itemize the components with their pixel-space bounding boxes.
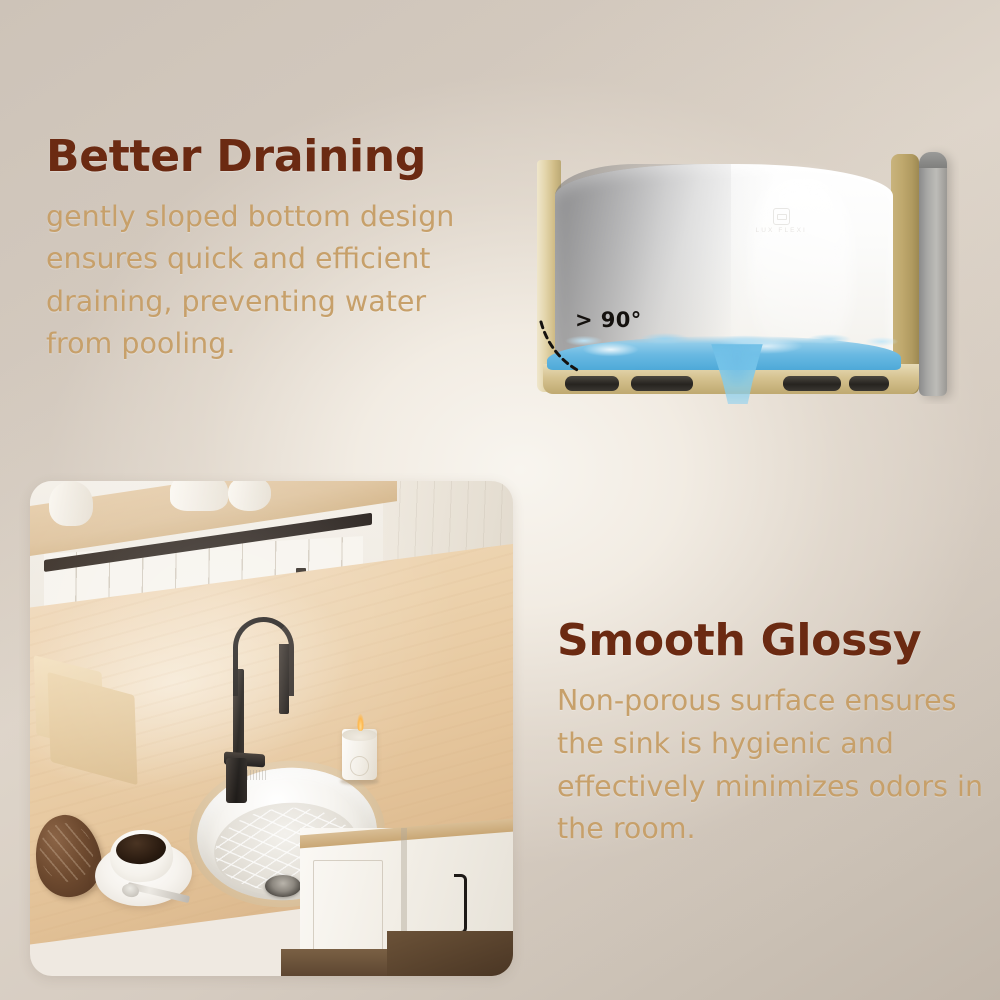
drain-slot [849,376,889,391]
ceramic-vase [228,481,271,511]
faucet-base [226,758,247,803]
angle-annotation-label: > 90° [575,308,642,332]
drain-slot [565,376,619,391]
brand-watermark: LUX FLEXI [744,208,818,234]
feature-body-smooth-glossy: Non-porous surface ensures the sink is h… [557,680,987,851]
faucet-spout [279,644,289,713]
feature-heading-smooth-glossy: Smooth Glossy [557,618,987,664]
ceramic-vase [170,481,228,511]
cabinet-door-panel [313,860,383,961]
sink-outer-shell [919,152,947,396]
floor-shadow [387,931,513,976]
product-feature-poster: Better Draining gently sloped bottom des… [0,0,1000,1000]
brand-mark-icon [773,208,790,225]
candle-flame [357,714,364,731]
kitchen-sink-lifestyle-photo [30,481,513,976]
feature-block-better-draining: Better Draining gently sloped bottom des… [46,134,498,365]
feature-heading-better-draining: Better Draining [46,134,498,180]
feature-body-better-draining: gently sloped bottom design ensures quic… [46,196,498,365]
candle-label-seal [350,756,369,775]
drain-slot [783,376,841,391]
sink-brand-stamp [247,770,266,780]
drain-slot [631,376,693,391]
cabinet-handle [454,874,468,934]
sink-illustration-stage: LUX FLEXI > 90° [519,142,959,404]
sink-cross-section-illustration: LUX FLEXI > 90° [519,142,959,404]
ceramic-vase [49,481,92,526]
brand-watermark-text: LUX FLEXI [744,227,818,234]
feature-block-smooth-glossy: Smooth Glossy Non-porous surface ensures… [557,618,987,851]
